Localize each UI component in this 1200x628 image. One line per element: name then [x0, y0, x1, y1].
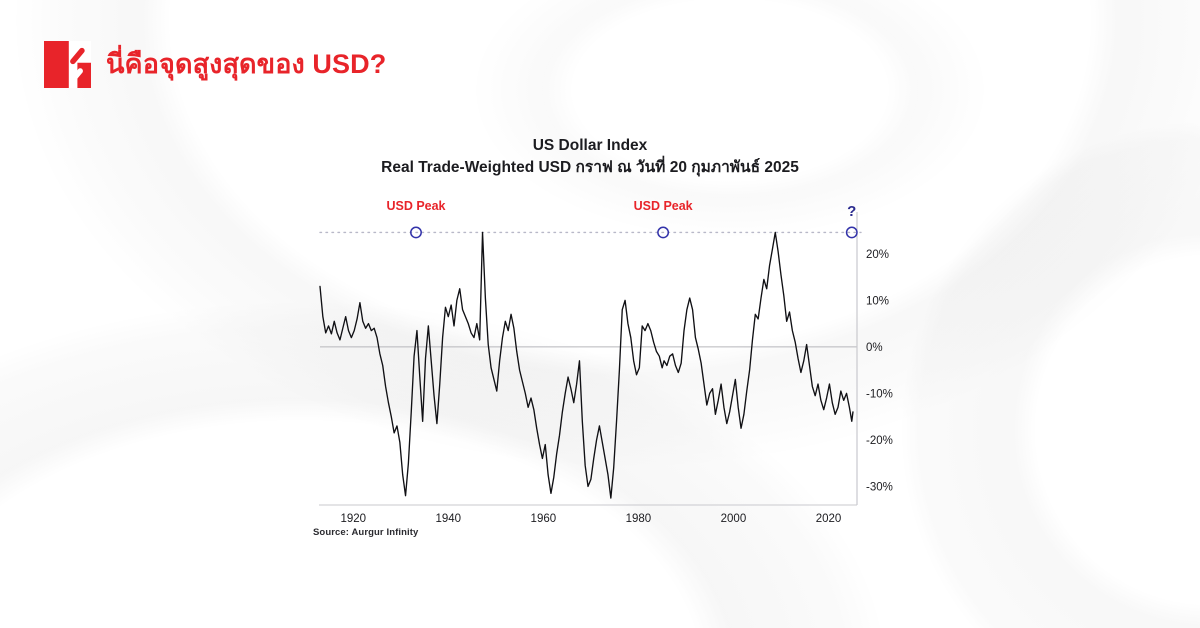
- x-tick-label: 2000: [721, 513, 747, 525]
- y-tick-label: -20%: [866, 435, 893, 447]
- chart-source-label: Source: Aurgur Infinity: [313, 527, 418, 538]
- chart-plot-svg: 20%10%0%-10%-20%-30%19201940196019802000…: [0, 0, 1200, 628]
- y-tick-label: 10%: [866, 296, 889, 308]
- infographic-page: นี่คือจุดสูงสุดของ USD? US Dollar Index …: [0, 0, 1200, 628]
- x-tick-label: 1920: [340, 513, 366, 525]
- x-tick-label: 1940: [436, 513, 462, 525]
- x-tick-label: 1960: [531, 513, 557, 525]
- chart-container: US Dollar Index Real Trade-Weighted USD …: [0, 0, 1200, 628]
- y-tick-label: 0%: [866, 342, 883, 354]
- annotation-usd-peak: USD Peak: [386, 199, 445, 213]
- annotation-usd-peak: USD Peak: [634, 199, 693, 213]
- x-tick-label: 1980: [626, 513, 652, 525]
- x-tick-label: 2020: [816, 513, 842, 525]
- annotation-question-mark: ?: [847, 203, 856, 220]
- y-tick-label: -30%: [866, 482, 893, 494]
- series-line: [320, 232, 853, 498]
- chart-source: Source: Aurgur Infinity: [313, 527, 418, 538]
- y-tick-label: -10%: [866, 389, 893, 401]
- y-tick-label: 20%: [866, 249, 889, 261]
